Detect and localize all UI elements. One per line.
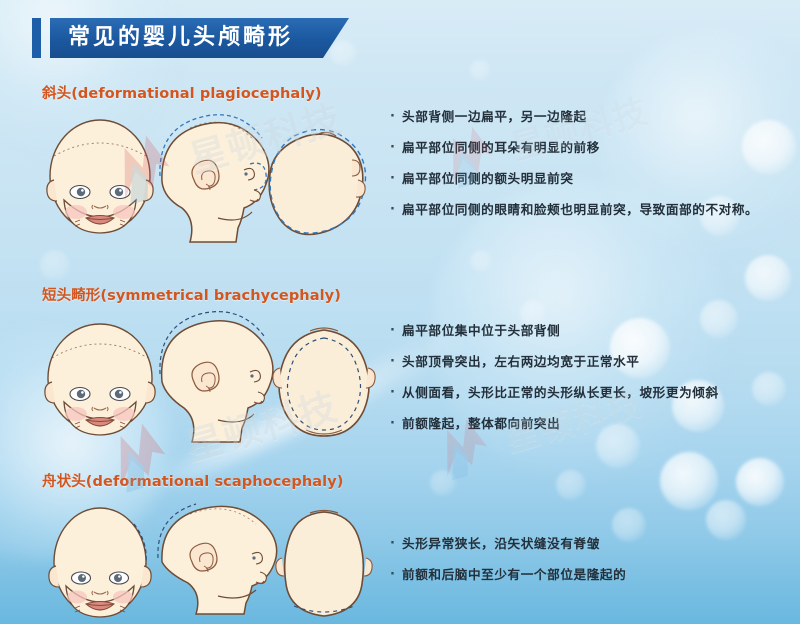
baby-front-illustration bbox=[34, 108, 164, 248]
bullet-text: 扁平部位同侧的眼睛和脸颊也明显前突，导致面部的不对称。 bbox=[402, 201, 758, 219]
bokeh-circle bbox=[556, 470, 586, 500]
skull-top-illustration bbox=[266, 118, 382, 244]
bokeh-circle bbox=[470, 60, 490, 80]
baby-front-illustration bbox=[36, 500, 166, 624]
bullet-text: 扁平部位同侧的额头明显前突 bbox=[402, 170, 574, 188]
figure-plagiocephaly-top bbox=[266, 118, 382, 244]
bullet-marker: · bbox=[390, 201, 402, 220]
page-title: 常见的婴儿头颅畸形 bbox=[68, 27, 293, 49]
bullet-text: 头部背侧一边扁平，另一边隆起 bbox=[402, 108, 587, 126]
banner-body: 常见的婴儿头颅畸形 bbox=[50, 18, 349, 58]
bullet-item: ·扁平部位集中位于头部背侧 bbox=[390, 322, 790, 341]
bullet-item: ·扁平部位同侧的额头明显前突 bbox=[390, 170, 786, 189]
bullet-item: ·头部背侧一边扁平，另一边隆起 bbox=[390, 108, 786, 127]
bullet-marker: · bbox=[390, 353, 402, 372]
bullet-list-plagiocephaly: ·头部背侧一边扁平，另一边隆起 ·扁平部位同侧的耳朵有明显的前移 ·扁平部位同侧… bbox=[390, 108, 786, 231]
bullet-list-scaphocephaly: ·头形异常狭长，沿矢状缝没有脊皱 ·前额和后脑中至少有一个部位是隆起的 bbox=[390, 535, 790, 597]
bokeh-circle bbox=[430, 470, 456, 496]
baby-front-illustration bbox=[34, 312, 164, 452]
skull-top-illustration bbox=[266, 318, 382, 444]
bullet-text: 头部顶骨突出，左右两边均宽于正常水平 bbox=[402, 353, 640, 371]
infographic-poster: 常见的婴儿头颅畸形 斜头(deformational plagiocephaly… bbox=[0, 0, 800, 624]
bullet-marker: · bbox=[390, 415, 402, 434]
bullet-marker: · bbox=[390, 170, 402, 189]
bokeh-circle bbox=[706, 500, 746, 540]
bullet-item: ·从侧面看，头形比正常的头形纵长更长，坡形更为倾斜 bbox=[390, 384, 790, 403]
figure-scaphocephaly-top bbox=[268, 506, 380, 622]
bullet-item: ·前额和后脑中至少有一个部位是隆起的 bbox=[390, 566, 790, 585]
bullet-text: 扁平部位同侧的耳朵有明显的前移 bbox=[402, 139, 600, 157]
section-heading: 短头畸形(symmetrical brachycephaly) bbox=[42, 284, 341, 305]
bullet-marker: · bbox=[390, 566, 402, 585]
bullet-marker: · bbox=[390, 139, 402, 158]
bullet-text: 头形异常狭长，沿矢状缝没有脊皱 bbox=[402, 535, 600, 553]
bokeh-circle bbox=[40, 250, 70, 280]
bullet-item: ·前额隆起，整体都向前突出 bbox=[390, 415, 790, 434]
bokeh-circle bbox=[736, 458, 784, 506]
figure-plagiocephaly-front bbox=[34, 108, 164, 248]
bullet-marker: · bbox=[390, 108, 402, 127]
banner-accent-bar bbox=[32, 18, 41, 58]
bullet-item: ·扁平部位同侧的眼睛和脸颊也明显前突，导致面部的不对称。 bbox=[390, 201, 786, 220]
bullet-marker: · bbox=[390, 322, 402, 341]
bokeh-circle bbox=[470, 250, 492, 272]
bullet-text: 扁平部位集中位于头部背侧 bbox=[402, 322, 560, 340]
bullet-list-brachycephaly: ·扁平部位集中位于头部背侧 ·头部顶骨突出，左右两边均宽于正常水平 ·从侧面看，… bbox=[390, 322, 790, 445]
bullet-item: ·扁平部位同侧的耳朵有明显的前移 bbox=[390, 139, 786, 158]
bullet-marker: · bbox=[390, 384, 402, 403]
bullet-item: ·头部顶骨突出，左右两边均宽于正常水平 bbox=[390, 353, 790, 372]
bullet-text: 从侧面看，头形比正常的头形纵长更长，坡形更为倾斜 bbox=[402, 384, 719, 402]
section-heading: 舟状头(deformational scaphocephaly) bbox=[42, 470, 343, 491]
bullet-marker: · bbox=[390, 535, 402, 554]
figure-brachycephaly-top bbox=[266, 318, 382, 444]
figure-scaphocephaly-front bbox=[36, 500, 166, 624]
skull-top-illustration bbox=[268, 506, 380, 622]
section-heading: 斜头(deformational plagiocephaly) bbox=[42, 82, 322, 103]
bokeh-circle bbox=[745, 255, 791, 301]
bokeh-circle bbox=[660, 452, 718, 510]
bullet-text: 前额隆起，整体都向前突出 bbox=[402, 415, 560, 433]
bullet-text: 前额和后脑中至少有一个部位是隆起的 bbox=[402, 566, 626, 584]
bullet-item: ·头形异常狭长，沿矢状缝没有脊皱 bbox=[390, 535, 790, 554]
title-banner: 常见的婴儿头颅畸形 bbox=[32, 18, 349, 58]
figure-brachycephaly-front bbox=[34, 312, 164, 452]
